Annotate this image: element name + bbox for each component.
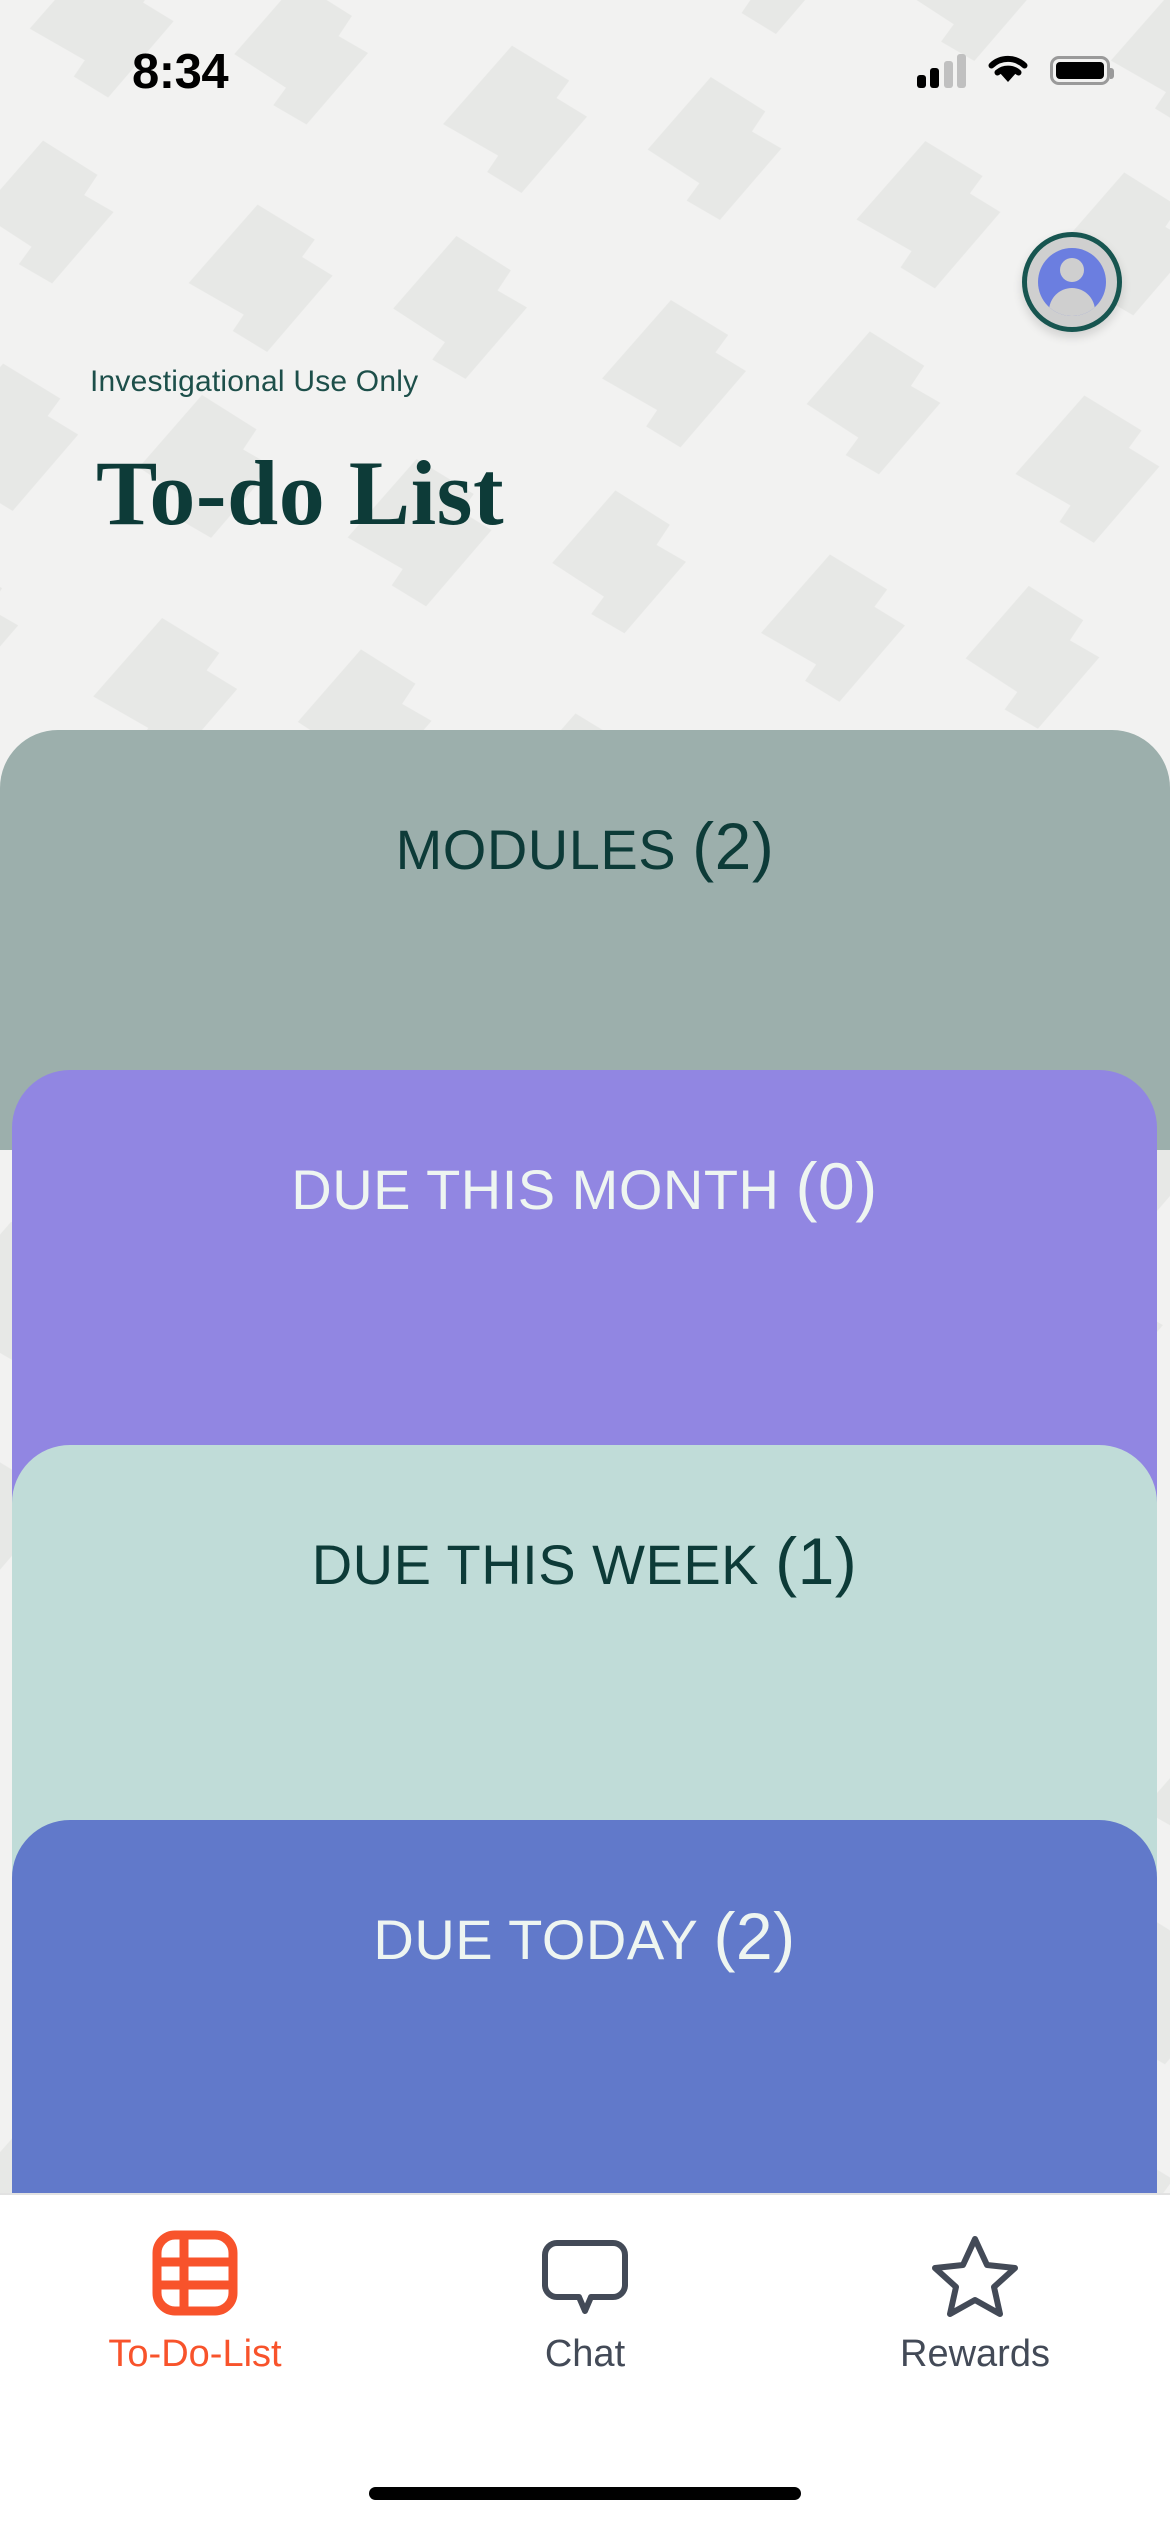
tab-chat-label: Chat (545, 2333, 625, 2376)
card-due-this-week-label: DUE THIS WEEK (1) (12, 1523, 1157, 1599)
card-count-text: (2) (692, 809, 774, 883)
wifi-icon (986, 52, 1030, 89)
status-bar: 8:34 (0, 0, 1170, 130)
tab-rewards-label: Rewards (900, 2333, 1050, 2376)
star-outline-icon (923, 2217, 1027, 2329)
battery-full-icon (1050, 56, 1110, 85)
card-label-text: MODULES (396, 818, 676, 881)
speech-bubble-icon (533, 2217, 637, 2329)
status-bar-time: 8:34 (132, 44, 228, 100)
card-label-text: DUE THIS WEEK (312, 1533, 759, 1596)
bottom-tab-bar: To-Do-List Chat Rewards (0, 2193, 1170, 2532)
tab-to-do-list-label: To-Do-List (108, 2333, 281, 2376)
table-grid-icon (143, 2217, 247, 2329)
card-due-today-label: DUE TODAY (2) (12, 1898, 1157, 1974)
category-card-stack: MODULES (2) DUE THIS MONTH (0) DUE THIS … (0, 0, 1170, 2200)
cellular-signal-icon (917, 54, 967, 88)
tab-list: To-Do-List Chat Rewards (0, 2195, 1170, 2376)
card-due-today[interactable]: DUE TODAY (2) (12, 1820, 1157, 2200)
status-bar-icons (917, 52, 1111, 89)
card-count-text: (1) (775, 1524, 857, 1598)
tab-chat[interactable]: Chat (390, 2217, 780, 2376)
card-modules-label: MODULES (2) (0, 808, 1170, 884)
tab-to-do-list[interactable]: To-Do-List (0, 2217, 390, 2376)
tab-rewards[interactable]: Rewards (780, 2217, 1170, 2376)
app-screen: 8:34 Investigational (0, 0, 1170, 2532)
card-label-text: DUE TODAY (373, 1908, 697, 1971)
card-count-text: (0) (796, 1149, 878, 1223)
card-count-text: (2) (713, 1899, 795, 1973)
home-indicator-bar (369, 2487, 801, 2500)
card-label-text: DUE THIS MONTH (291, 1158, 779, 1221)
card-due-this-month-label: DUE THIS MONTH (0) (12, 1148, 1157, 1224)
